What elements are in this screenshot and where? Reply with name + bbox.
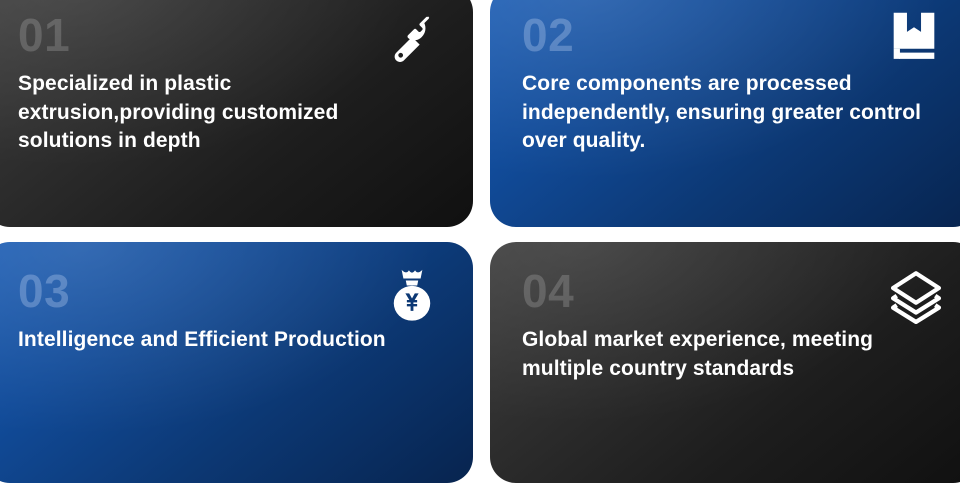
feature-card-04[interactable]: 04 Global market experience, meeting mul… [490, 242, 960, 483]
wrench-icon [381, 8, 443, 70]
book-bookmark-icon [883, 6, 945, 68]
card-content-03: 03 Intelligence and Efficient Production [0, 242, 473, 483]
card-number-03: 03 [18, 268, 443, 314]
card-text-04: Global market experience, meeting multip… [522, 326, 949, 383]
layers-stack-icon [885, 266, 947, 328]
feature-card-03[interactable]: 03 Intelligence and Efficient Production [0, 242, 473, 483]
card-text-02: Core components are processed independen… [522, 70, 949, 156]
feature-card-01[interactable]: 01 Specialized in plastic extrusion,prov… [0, 0, 473, 227]
card-content-01: 01 Specialized in plastic extrusion,prov… [0, 0, 473, 227]
money-bag-yen-icon [381, 264, 443, 326]
feature-card-02[interactable]: 02 Core components are processed indepen… [490, 0, 960, 227]
card-content-04: 04 Global market experience, meeting mul… [490, 242, 960, 483]
feature-card-grid: 01 Specialized in plastic extrusion,prov… [0, 0, 960, 459]
card-text-03: Intelligence and Efficient Production [18, 326, 433, 355]
card-text-01: Specialized in plastic extrusion,providi… [18, 70, 433, 156]
card-content-02: 02 Core components are processed indepen… [490, 0, 960, 227]
card-number-01: 01 [18, 12, 443, 58]
